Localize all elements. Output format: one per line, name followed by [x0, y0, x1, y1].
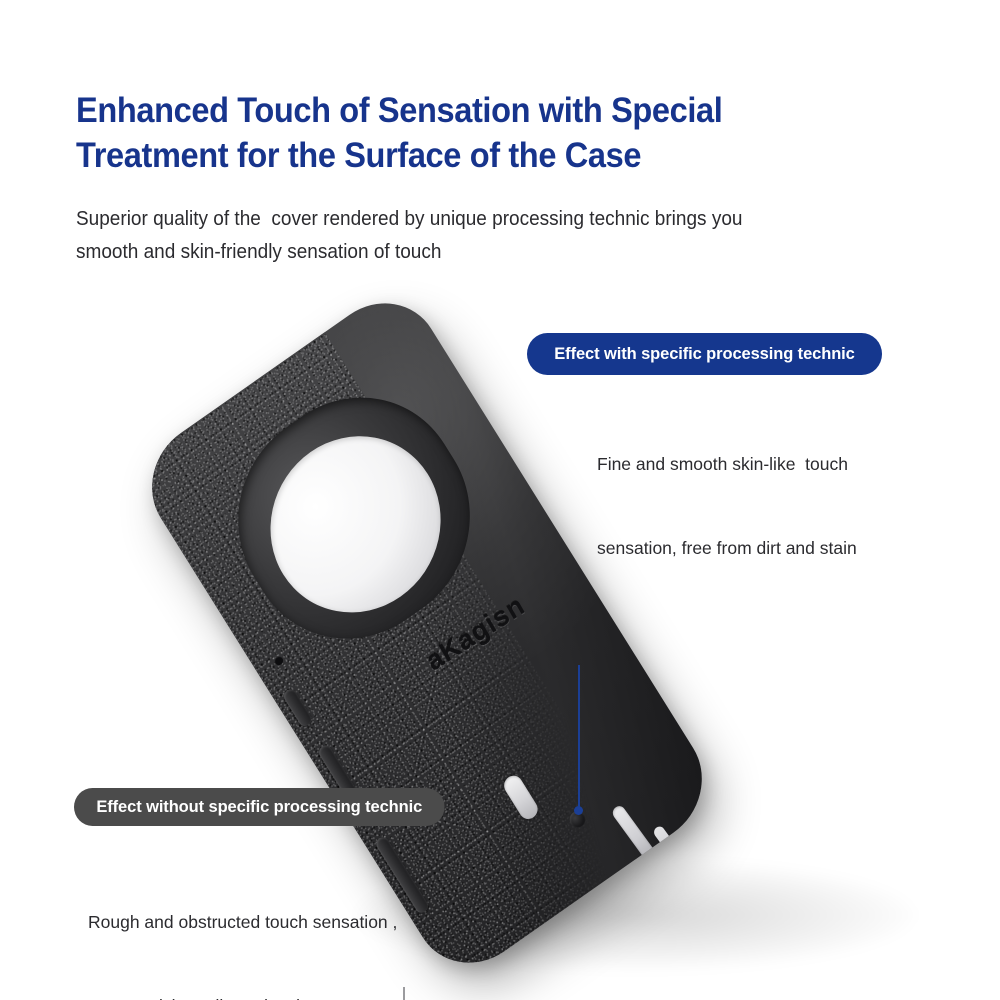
callout-leader-dot-with-technic: [574, 806, 583, 815]
callout-text-with-technic-line-1: Fine and smooth skin-like touch: [597, 450, 857, 478]
page-subtitle-line-1: Superior quality of the cover rendered b…: [76, 203, 865, 236]
callout-text-with-technic-line-2: sensation, free from dirt and stain: [597, 534, 857, 562]
page-title: Enhanced Touch of Sensation with Special…: [76, 88, 839, 178]
page-subtitle-line-2: smooth and skin-friendly sensation of to…: [76, 236, 865, 269]
callout-text-without-technic: Rough and obstructed touch sensation , e…: [88, 852, 397, 1000]
callout-leader-line-without-technic: [403, 987, 405, 1000]
badge-effect-with-technic: Effect with specific processing technic: [527, 333, 882, 375]
page-title-line-2: Treatment for the Surface of the Case: [76, 133, 839, 178]
callout-text-without-technic-line-1: Rough and obstructed touch sensation ,: [88, 908, 397, 936]
page-title-line-1: Enhanced Touch of Sensation with Special: [76, 88, 839, 133]
page-subtitle: Superior quality of the cover rendered b…: [76, 203, 865, 269]
badge-effect-without-technic: Effect without specific processing techn…: [74, 788, 445, 826]
speaker-grill-cutout: [652, 824, 681, 858]
feature-banner-page: Enhanced Touch of Sensation with Special…: [0, 0, 1000, 1000]
callout-text-without-technic-line-2: easy to pick up dirt and stain: [88, 992, 397, 1000]
callout-text-with-technic: Fine and smooth skin-like touch sensatio…: [597, 394, 857, 618]
